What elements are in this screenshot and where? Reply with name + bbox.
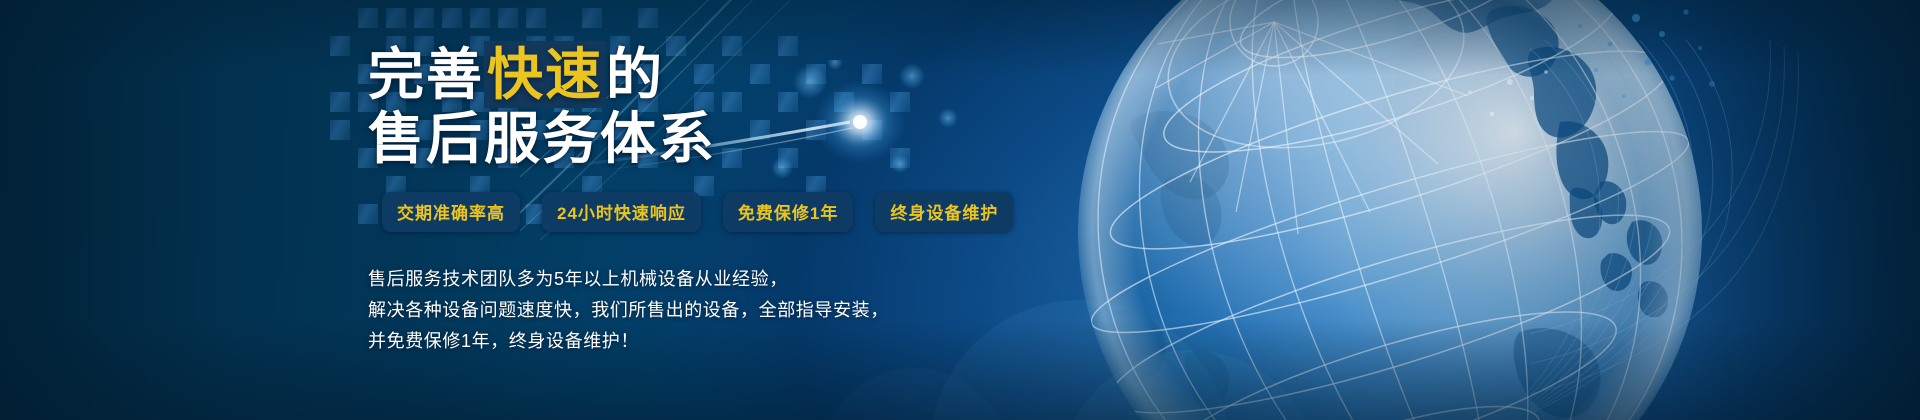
body-line: 解决各种设备问题速度快，我们所售出的设备，全部指导安装， <box>368 295 1112 326</box>
service-banner: 完善快速的 售后服务体系 交期准确率高 24小时快速响应 免费保修1年 终身设备… <box>0 0 1920 420</box>
feature-tag[interactable]: 免费保修1年 <box>723 192 853 232</box>
headline-accent: 快速 <box>484 41 606 108</box>
wire-mesh-graphic <box>1530 40 1870 420</box>
decorative-circle <box>1290 0 1440 60</box>
headline: 完善快速的 售后服务体系 <box>352 46 1112 168</box>
feature-tag[interactable]: 交期准确率高 <box>382 192 520 232</box>
headline-line-1: 完善快速的 <box>368 46 1112 104</box>
body-line: 售后服务技术团队多为5年以上机械设备从业经验， <box>368 264 1112 295</box>
decorative-circle <box>1060 350 1320 420</box>
headline-line-2: 售后服务体系 <box>368 110 1112 168</box>
body-copy: 售后服务技术团队多为5年以上机械设备从业经验， 解决各种设备问题速度快，我们所售… <box>368 264 1112 357</box>
bokeh-dots-graphic <box>1400 0 1730 180</box>
body-line: 并免费保修1年，终身设备维护！ <box>368 326 1112 357</box>
feature-tag[interactable]: 24小时快速响应 <box>542 192 701 232</box>
decorative-circle <box>820 368 1010 420</box>
feature-tag-list: 交期准确率高 24小时快速响应 免费保修1年 终身设备维护 <box>382 192 1112 232</box>
globe-graphic <box>1040 0 1740 420</box>
banner-content: 完善快速的 售后服务体系 交期准确率高 24小时快速响应 免费保修1年 终身设备… <box>352 46 1112 357</box>
decorative-circle <box>1180 0 1400 160</box>
headline-prefix: 完善 <box>368 43 484 106</box>
headline-suffix: 的 <box>606 43 664 106</box>
feature-tag[interactable]: 终身设备维护 <box>875 192 1013 232</box>
